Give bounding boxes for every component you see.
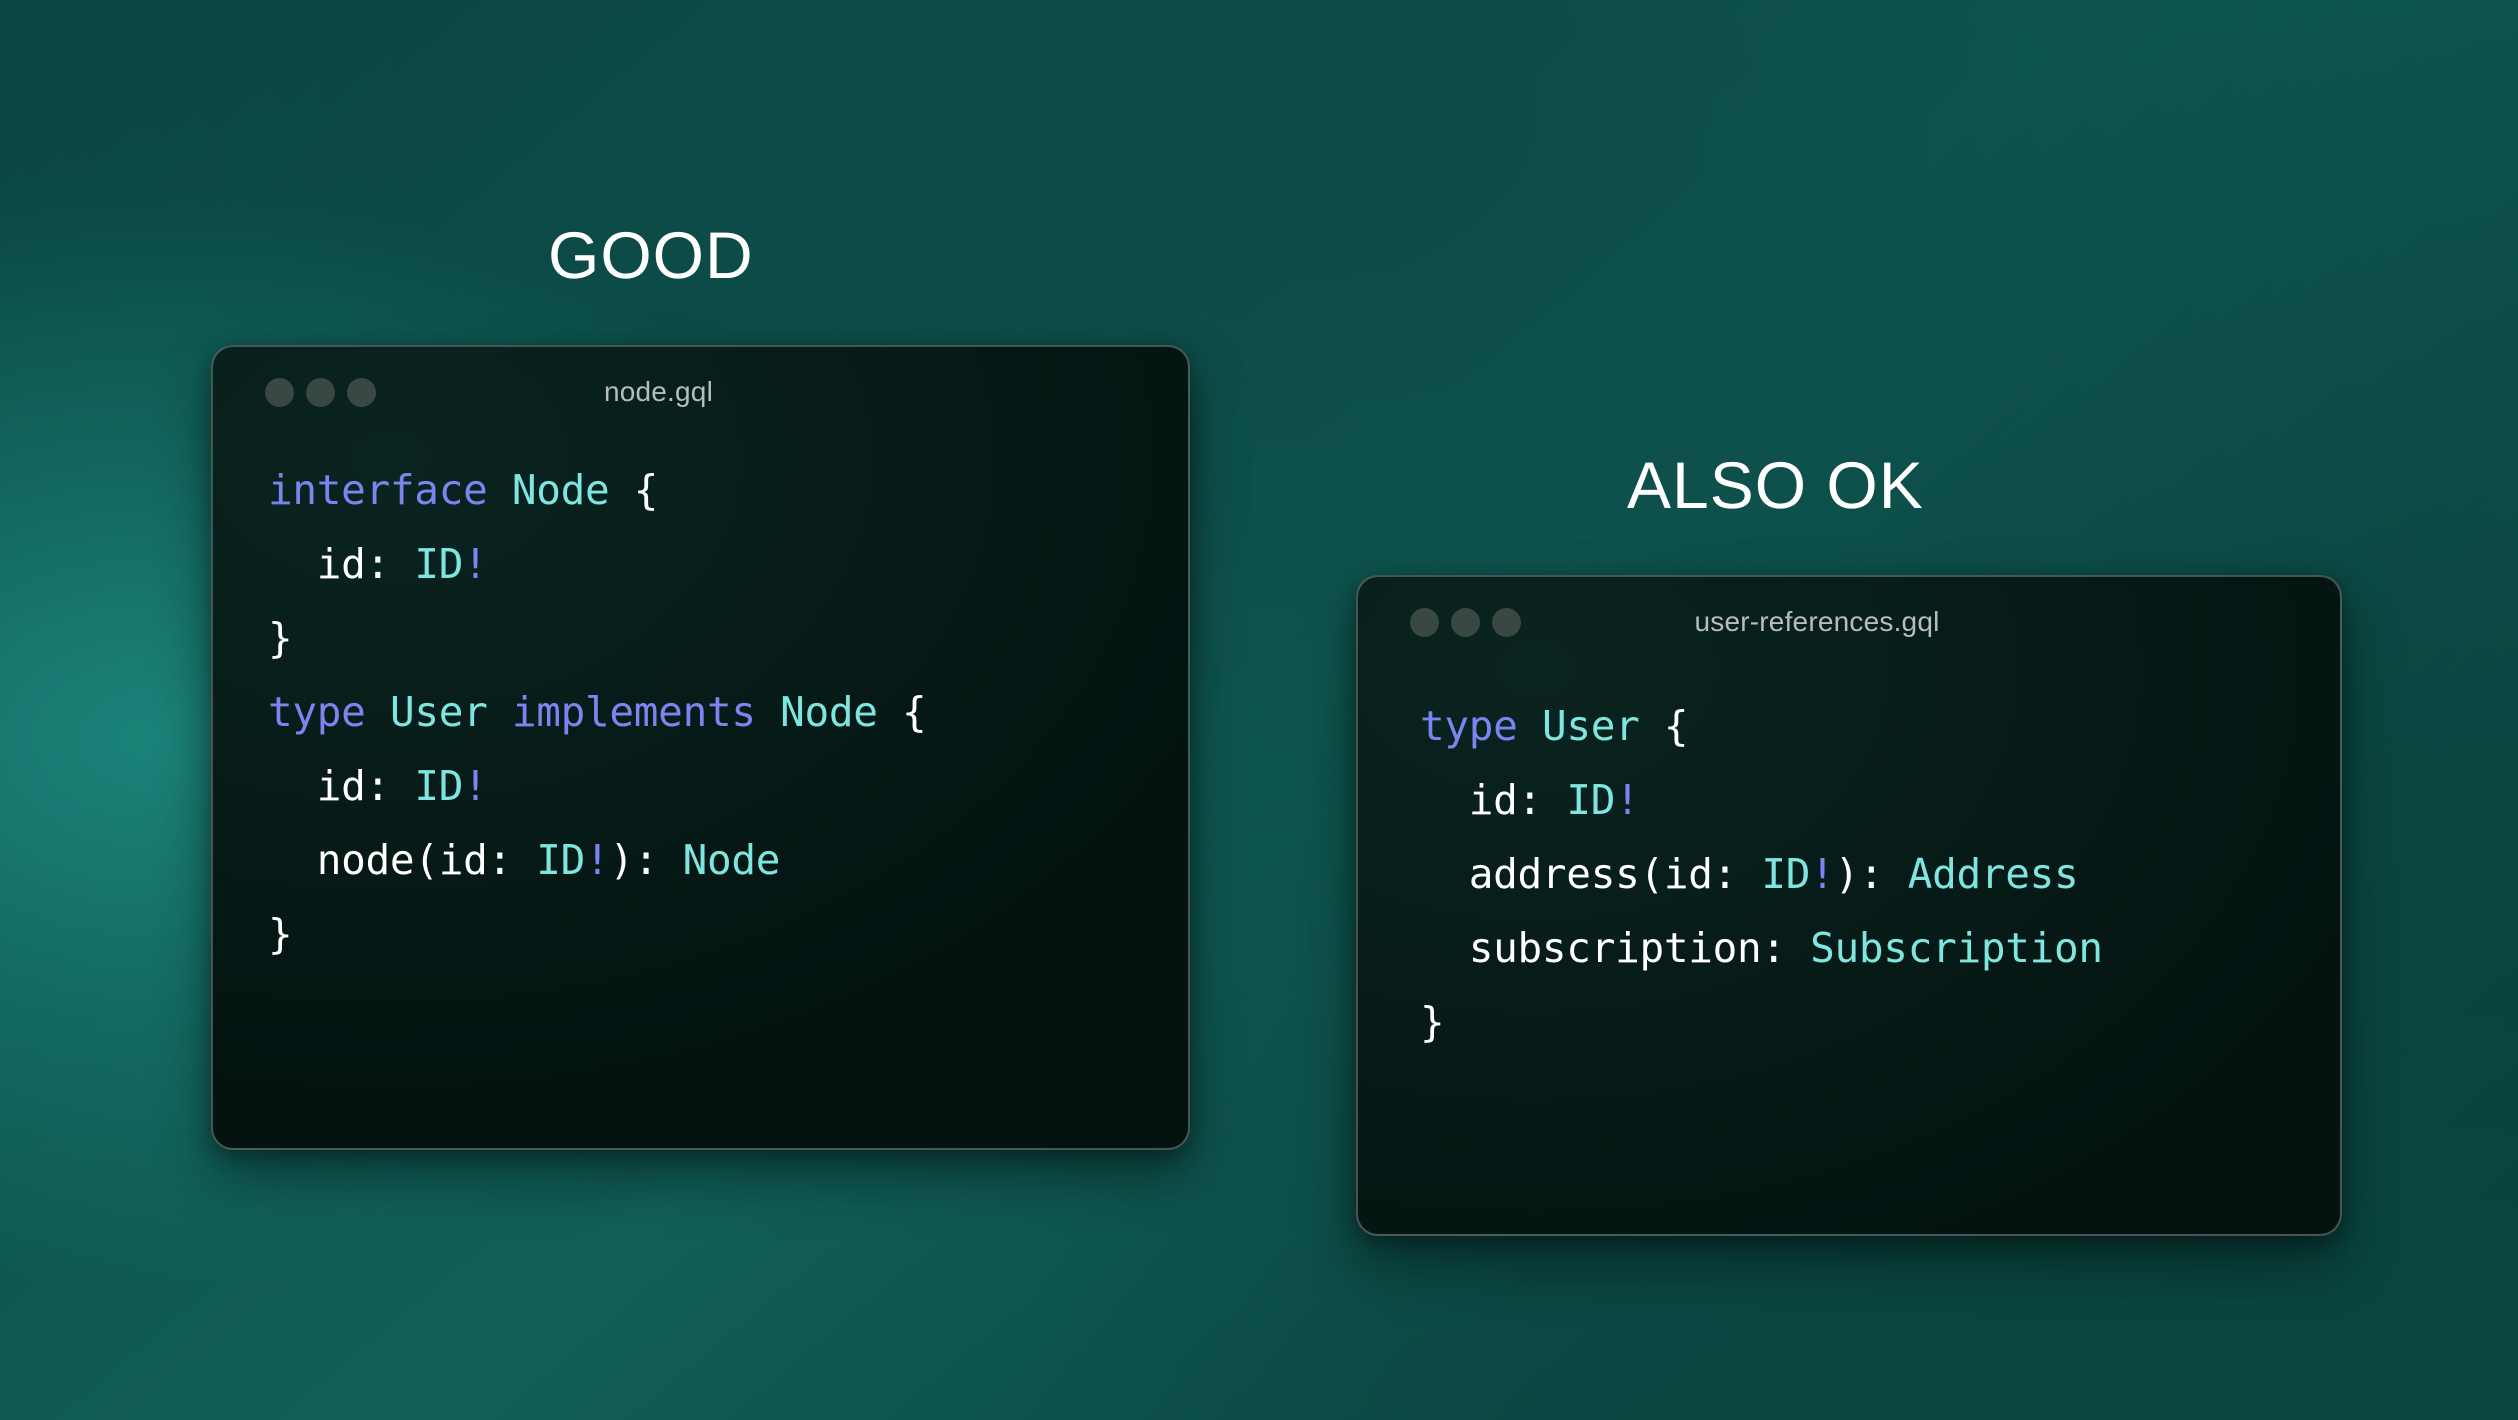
code-line: address(id: ID!): Address [1420,837,2340,911]
section-heading-also-ok: ALSO OK [1627,448,1924,522]
code-token-keyword: type [268,688,366,736]
code-token-type: ID [414,762,463,810]
code-line: interface Node { [268,453,1188,527]
code-token-type: ID [536,836,585,884]
code-line: } [1420,985,2340,1059]
code-line: } [268,601,1188,675]
code-token-keyword: ! [463,540,487,588]
code-token-plain: } [268,910,292,958]
code-token-plain: address(id: [1420,850,1761,898]
traffic-light-group [265,378,376,407]
code-token-type: ID [1566,776,1615,824]
code-token-plain [1518,702,1542,750]
code-token-plain: ): [609,836,682,884]
code-token-plain: id: [268,762,414,810]
close-dot-icon[interactable] [265,378,294,407]
code-token-type: Node [780,688,878,736]
window-titlebar: node.gql [213,347,1188,437]
code-line: } [268,897,1188,971]
window-titlebar: user-references.gql [1358,577,2340,667]
code-line: id: ID! [1420,763,2340,837]
code-token-type: Node [683,836,781,884]
code-window-also-ok[interactable]: user-references.gql type User { id: ID! … [1356,575,2342,1236]
code-token-type: Node [512,466,610,514]
code-line: subscription: Subscription [1420,911,2340,985]
code-token-type: ID [414,540,463,588]
code-line: id: ID! [268,749,1188,823]
traffic-light-group [1410,608,1521,637]
code-token-plain: id: [268,540,414,588]
code-token-plain: id: [1420,776,1566,824]
code-token-plain: { [1639,702,1688,750]
code-token-plain [366,688,390,736]
code-token-plain: } [1420,998,1444,1046]
code-window-good[interactable]: node.gql interface Node { id: ID!}type U… [211,345,1190,1150]
code-line: node(id: ID!): Node [268,823,1188,897]
code-block[interactable]: type User { id: ID! address(id: ID!): Ad… [1358,667,2340,1059]
maximize-dot-icon[interactable] [347,378,376,407]
code-block[interactable]: interface Node { id: ID!}type User imple… [213,437,1188,971]
code-token-plain: node(id: [268,836,536,884]
code-token-keyword: type [1420,702,1518,750]
code-line: type User implements Node { [268,675,1188,749]
code-token-plain: subscription: [1420,924,1810,972]
minimize-dot-icon[interactable] [306,378,335,407]
maximize-dot-icon[interactable] [1492,608,1521,637]
code-token-plain [487,466,511,514]
code-token-keyword: ! [1615,776,1639,824]
code-token-plain [756,688,780,736]
code-line: id: ID! [268,527,1188,601]
code-token-keyword: implements [512,688,756,736]
code-token-plain [487,688,511,736]
code-token-type: ID [1761,850,1810,898]
code-token-type: User [1542,702,1640,750]
code-token-keyword: ! [1810,850,1834,898]
code-token-plain: ): [1835,850,1908,898]
code-token-plain: } [268,614,292,662]
code-token-type: Subscription [1810,924,2103,972]
code-token-type: Address [1908,850,2079,898]
section-heading-good: GOOD [548,218,754,292]
code-token-plain: { [878,688,927,736]
code-token-keyword: interface [268,466,487,514]
close-dot-icon[interactable] [1410,608,1439,637]
code-token-type: User [390,688,488,736]
minimize-dot-icon[interactable] [1451,608,1480,637]
code-token-keyword: ! [463,762,487,810]
code-line: type User { [1420,689,2340,763]
code-token-keyword: ! [585,836,609,884]
code-token-plain: { [609,466,658,514]
